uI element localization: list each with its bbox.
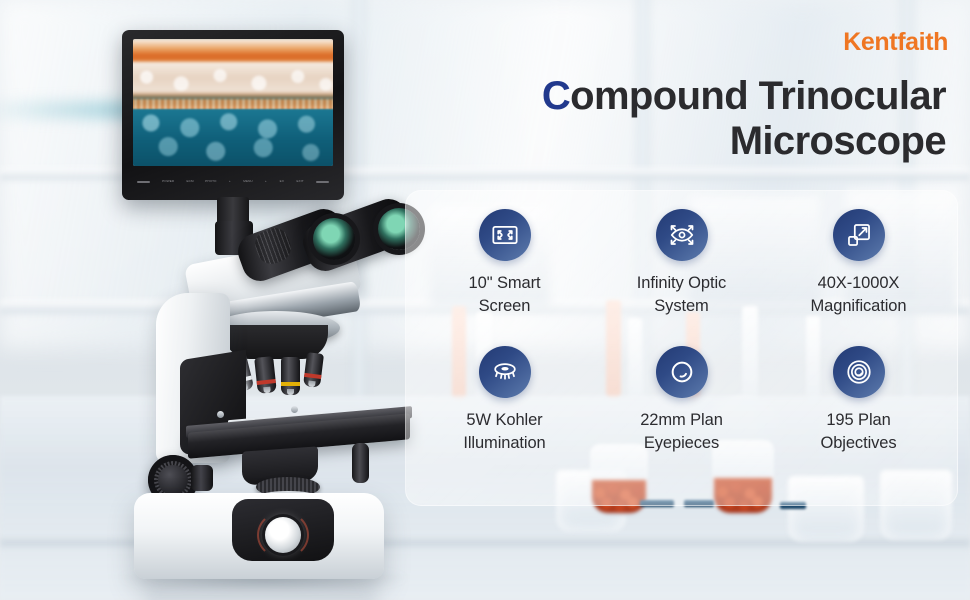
illuminator-lens (265, 517, 301, 553)
feature-label: 5W Kohler Illumination (463, 409, 545, 455)
monitor-button-menu[interactable]: MENU (243, 180, 252, 184)
fine-focus-knob (191, 465, 213, 491)
product-reflection (146, 577, 376, 600)
monitor-button-row[interactable]: POWER ECM PHOTO + MENU + EX EXIT (133, 174, 333, 190)
eyepiece-lens-icon (656, 346, 708, 398)
page-title: Compound TrinocularMicroscope (430, 74, 946, 164)
feature-item-infinity-optic: Infinity Optic System (593, 209, 770, 346)
feature-label: 10" Smart Screen (469, 272, 541, 318)
monitor-button-plus[interactable]: + (229, 180, 231, 184)
specimen-vacuoles (133, 110, 333, 166)
objective-tip (308, 381, 315, 388)
objective-tip (263, 387, 271, 394)
monitor-button-power[interactable]: POWER (162, 180, 174, 184)
microscope-product-image: POWER ECM PHOTO + MENU + EX EXIT (60, 25, 420, 575)
lcd-monitor: POWER ECM PHOTO + MENU + EX EXIT (122, 30, 344, 200)
objective-band (257, 379, 276, 385)
monitor-dash-right (316, 181, 329, 183)
lcd-screen (133, 39, 333, 166)
objective-band (304, 373, 321, 379)
eyepiece-lens-left (313, 218, 355, 260)
objective-rings-icon (833, 346, 885, 398)
stage-control-knob (352, 443, 369, 483)
objective-lens (281, 357, 300, 395)
title-line-two: Microscope (730, 119, 946, 163)
feature-label: Infinity Optic System (637, 272, 726, 318)
monitor-button-ecm[interactable]: ECM (186, 180, 193, 184)
stage-clip (291, 406, 298, 413)
monitor-button-ex[interactable]: EX (279, 180, 283, 184)
objective-lens (254, 356, 277, 394)
monitor-button-plus-2[interactable]: + (265, 180, 267, 184)
magnify-scale-icon (833, 209, 885, 261)
feature-item-plan-eyepieces: 22mm Plan Eyepieces (593, 346, 770, 483)
title-accent-letter: C (542, 74, 570, 118)
stage-clip (217, 411, 224, 418)
monitor-button-exit[interactable]: EXIT (296, 180, 303, 184)
title-line-one: ompound Trinocular (570, 74, 946, 118)
feature-label: 40X-1000X Magnification (811, 272, 907, 318)
feature-highlight-panel: 10" Smart Screen Infinity Optic System 4… (405, 190, 958, 506)
objective-band (281, 382, 300, 386)
feature-label: 195 Plan Objectives (820, 409, 896, 455)
expand-screen-icon (479, 209, 531, 261)
objective-lens (303, 352, 324, 388)
feature-item-plan-objectives: 195 Plan Objectives (770, 346, 947, 483)
feature-item-kohler-illumination: 5W Kohler Illumination (416, 346, 593, 483)
feature-label: 22mm Plan Eyepieces (640, 409, 723, 455)
objective-tip (287, 389, 295, 395)
brand-logo: Kentfaith (843, 28, 948, 57)
specimen-cells (133, 64, 333, 97)
eye-focus-icon (656, 209, 708, 261)
lamp-illumination-icon (479, 346, 531, 398)
feature-item-smart-screen: 10" Smart Screen (416, 209, 593, 346)
monitor-button-photo[interactable]: PHOTO (205, 180, 216, 184)
feature-item-magnification: 40X-1000X Magnification (770, 209, 947, 346)
monitor-dash-left (137, 181, 150, 183)
